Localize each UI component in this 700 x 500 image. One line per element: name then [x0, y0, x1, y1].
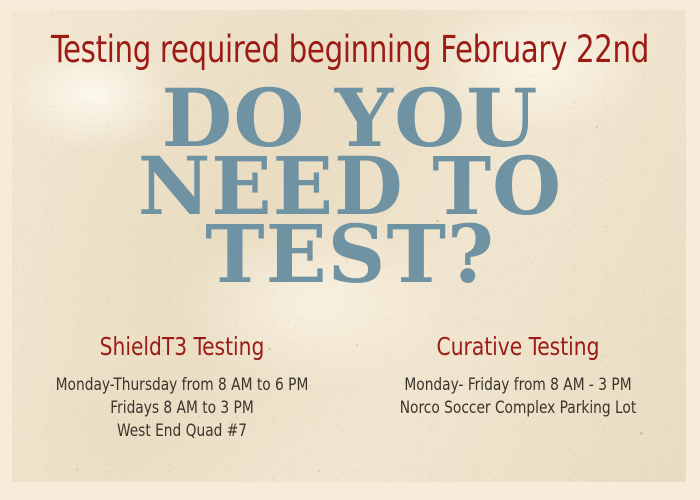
shieldt3-detail-line: West End Quad #7 — [31, 420, 333, 443]
main-headline: DO YOU NEED TO TEST? — [0, 84, 700, 288]
shieldt3-detail-line: Fridays 8 AM to 3 PM — [31, 397, 333, 420]
eyebrow-headline: Testing required beginning February 22nd — [42, 28, 658, 72]
curative-detail-line: Norco Soccer Complex Parking Lot — [367, 397, 669, 420]
testing-site-columns: ShieldT3 Testing Monday-Thursday from 8 … — [14, 332, 686, 443]
headline-line-3: TEST? — [0, 220, 700, 288]
shieldt3-heading: ShieldT3 Testing — [31, 332, 333, 362]
curative-heading: Curative Testing — [367, 332, 669, 362]
testing-site-shieldt3: ShieldT3 Testing Monday-Thursday from 8 … — [14, 332, 350, 443]
testing-flyer-poster: Testing required beginning February 22nd… — [0, 0, 700, 500]
curative-detail-line: Monday- Friday from 8 AM - 3 PM — [367, 374, 669, 397]
shieldt3-detail-line: Monday-Thursday from 8 AM to 6 PM — [31, 374, 333, 397]
testing-site-curative: Curative Testing Monday- Friday from 8 A… — [350, 332, 686, 443]
